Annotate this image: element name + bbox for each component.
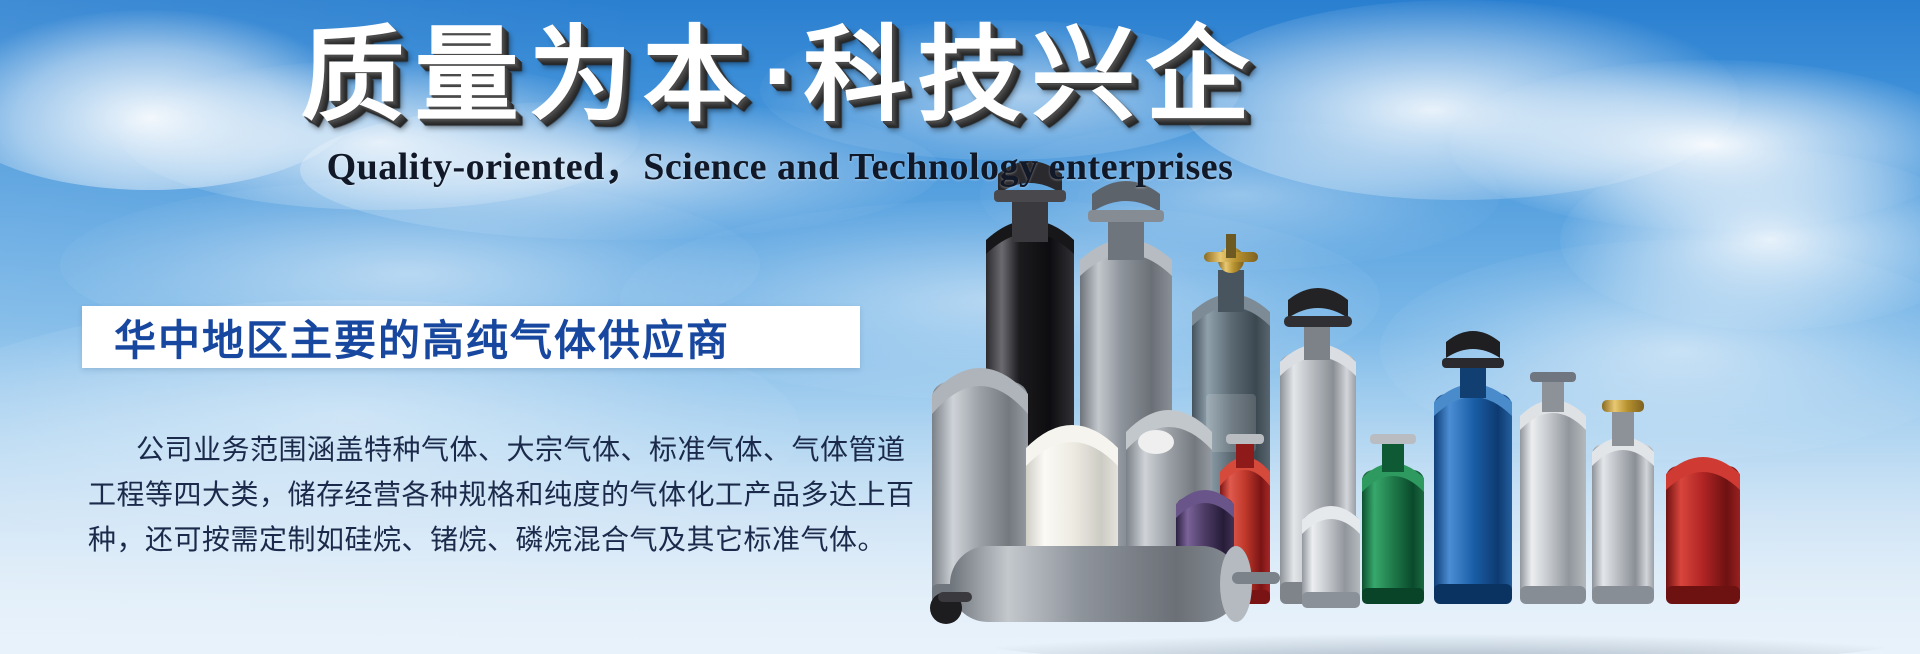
description-paragraph: 公司业务范围涵盖特种气体、大宗气体、标准气体、气体管道 工程等四大类，储存经营各… (88, 428, 868, 563)
highlight-box: 华中地区主要的高纯气体供应商 (82, 306, 860, 368)
paragraph-line-1: 公司业务范围涵盖特种气体、大宗气体、标准气体、气体管道 (88, 428, 868, 473)
headline-part-2: 科技兴企 (803, 18, 1259, 134)
banner-content: 质量为本·科技兴企 Quality-oriented，Science and T… (0, 0, 1920, 654)
promo-banner: 质量为本·科技兴企 Quality-oriented，Science and T… (0, 0, 1920, 654)
paragraph-line-2: 工程等四大类，储存经营各种规格和纯度的气体化工产品多达上百 (88, 473, 868, 518)
highlight-box-text: 华中地区主要的高纯气体供应商 (82, 307, 730, 368)
tagline: Quality-oriented，Science and Technology … (0, 135, 1560, 190)
headline: 质量为本·科技兴企 (0, 18, 1560, 134)
headline-separator: · (757, 18, 804, 134)
paragraph-line-3: 种，还可按需定制如硅烷、锗烷、磷烷混合气及其它标准气体。 (88, 518, 868, 563)
headline-part-1: 质量为本 (301, 18, 757, 134)
